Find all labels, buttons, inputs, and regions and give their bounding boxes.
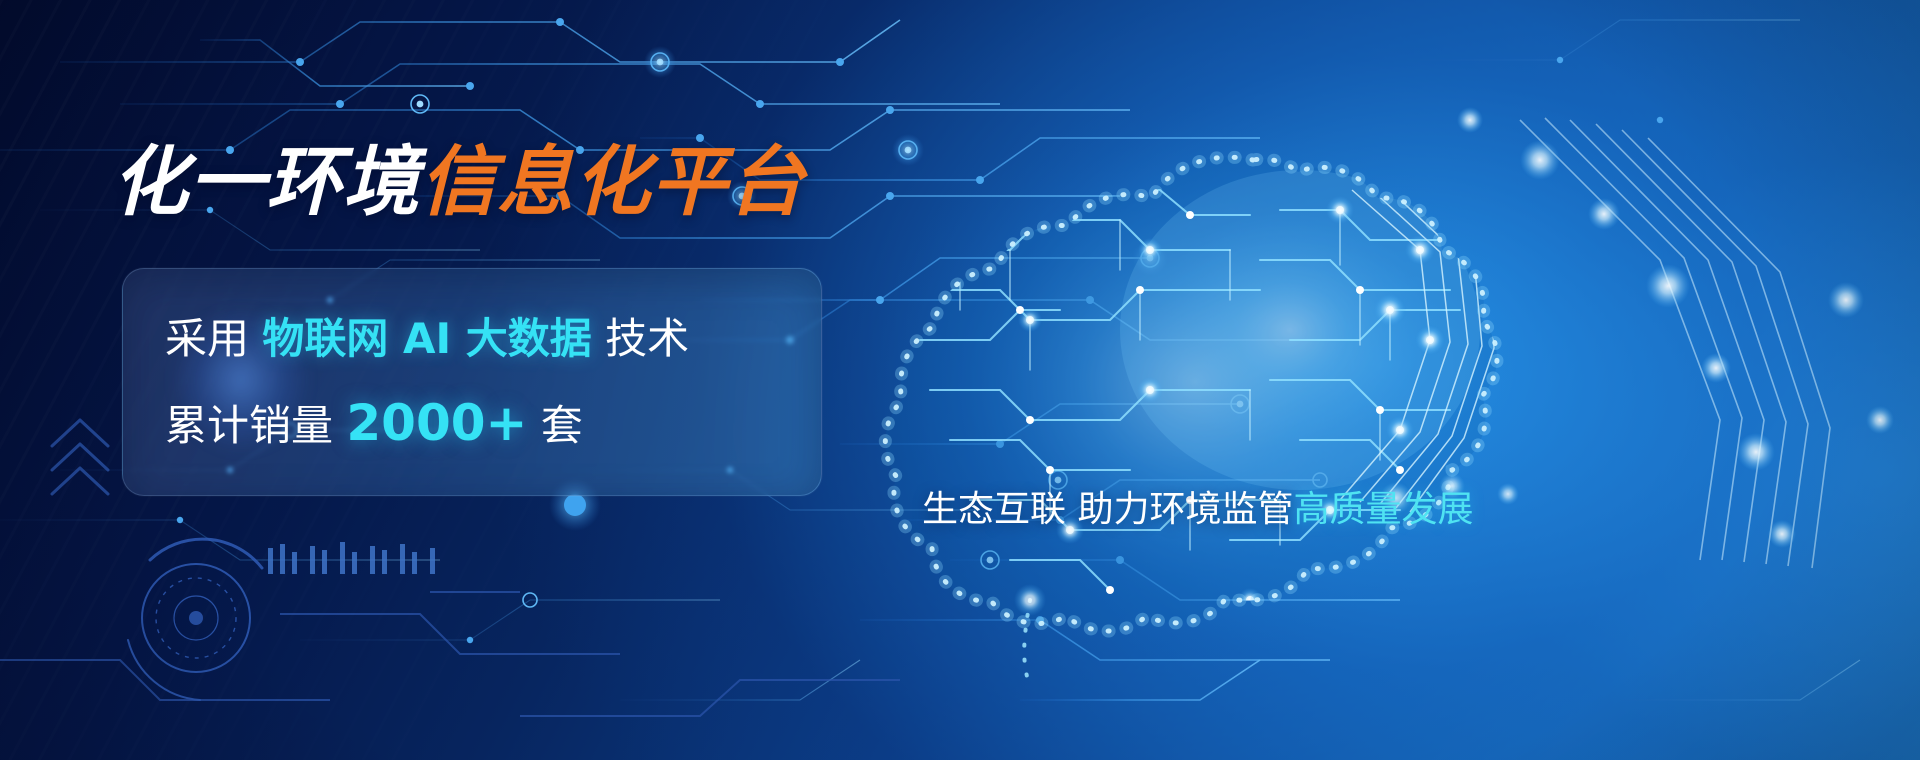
- feature-line1-highlight: 物联网 AI 大数据: [262, 314, 591, 363]
- sales-count-value: 2000+: [346, 394, 527, 452]
- feature-line1-suffix: 技术: [605, 314, 689, 363]
- feature-card: 采用 物联网 AI 大数据 技术 累计销量 2000+ 套: [122, 268, 822, 496]
- page-title-orange: 信息化平台: [420, 137, 805, 226]
- tagline-white: 生态互联 助力环境监管: [922, 489, 1293, 530]
- feature-card-line-2: 累计销量 2000+ 套: [165, 397, 583, 452]
- bar-tick-decoration: [268, 542, 435, 574]
- tagline: 生态互联 助力环境监管高质量发展: [922, 487, 1473, 533]
- feature-line2-prefix: 累计销量: [165, 401, 333, 450]
- feature-card-line-1: 采用 物联网 AI 大数据 技术: [165, 313, 689, 365]
- page-title: 化一环境信息化平台: [112, 140, 805, 224]
- hero-banner: 化一环境信息化平台 采用 物联网 AI 大数据 技术 累计销量 2000+ 套 …: [0, 0, 1920, 760]
- tagline-cyan: 高质量发展: [1293, 489, 1473, 530]
- feature-line2-suffix: 套: [541, 401, 583, 450]
- page-title-white: 化一环境: [112, 137, 420, 226]
- feature-line1-prefix: 采用: [165, 314, 249, 363]
